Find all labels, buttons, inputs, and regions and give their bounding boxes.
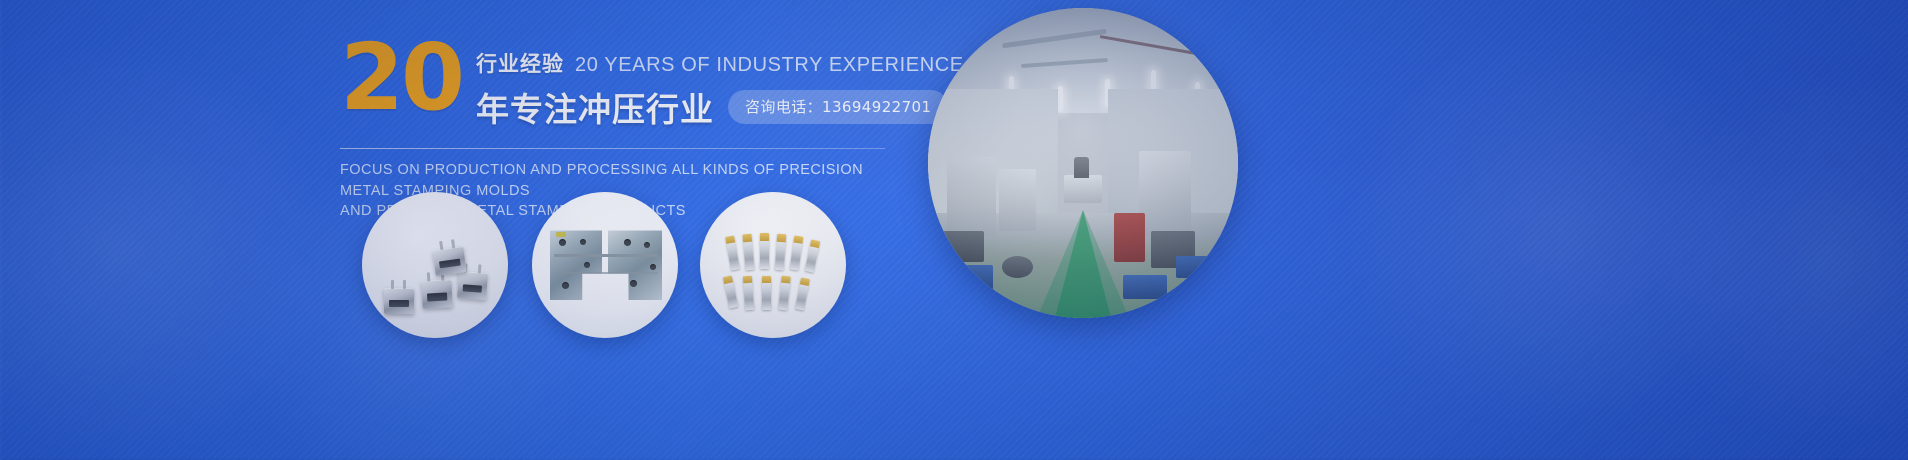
usb-slot [462,284,482,292]
usb-shell-1 [384,288,414,314]
usb-pin [439,241,443,250]
mold-guide-bar [554,272,658,274]
mold-hole [624,239,631,246]
tagline-en: 20 YEARS OF INDUSTRY EXPERIENCE [575,54,964,77]
terminal-tip [810,239,820,248]
terminal-tip [743,276,752,284]
factory-photo-circle [928,8,1238,318]
usb-shell-4 [432,246,466,276]
usb-shell-3 [457,271,488,300]
usb-shell-2 [421,279,452,309]
terminal-tip [760,233,769,241]
terminal-tip [781,276,791,284]
product-circle-terminals [700,192,846,338]
headline-row: 20 行业经验 20 YEARS OF INDUSTRY EXPERIENCE … [340,34,900,131]
years-number: 20 [340,38,462,119]
terminal-tip [742,234,752,243]
usb-pin [403,280,406,289]
photo-shading [928,8,1238,318]
usb-slot [389,300,409,307]
usb-slot [427,293,448,301]
terminal-tip [725,235,735,244]
phone-badge[interactable]: 咨询电话：13694922701 [728,90,948,124]
terminal-tip [800,277,810,286]
usb-pin [427,272,430,281]
terminal-pin [762,276,771,310]
terminal-pin [775,234,786,271]
tagline-cn-large: 年专注冲压行业 [476,83,714,131]
promo-banner: 20 行业经验 20 YEARS OF INDUSTRY EXPERIENCE … [0,0,1908,460]
terminal-pin [723,275,738,308]
tagline-cn-small: 行业经验 [476,48,564,78]
mold-hole [580,239,586,245]
terminal-pin [725,235,740,270]
usb-pin [451,239,455,248]
mold-hole [584,262,590,268]
terminal-pin [795,277,810,310]
product-circle-usb-connectors [362,192,508,338]
mold-hole [562,282,569,289]
mold-guide-bar [554,254,658,257]
usb-pin [478,264,482,273]
terminal-tip [762,276,771,283]
usb-pin [391,280,394,289]
mold-hole [650,264,656,270]
terminal-pin [760,233,769,269]
mold-plate-left [550,230,602,300]
terminal-pin [790,236,804,271]
tagline-line-2: 年专注冲压行业 咨询电话：13694922701 [476,83,964,131]
headline-text-group: 行业经验 20 YEARS OF INDUSTRY EXPERIENCE 年专注… [476,34,964,131]
terminal-pin [805,239,820,272]
terminal-tip [723,275,733,284]
usb-slot [439,259,461,269]
mold-hole [644,242,650,248]
divider-line [340,148,885,149]
mold-marker [556,232,566,237]
terminal-pin [742,234,754,271]
mold-hole [559,239,566,246]
product-circle-stamping-mold [532,192,678,338]
terminal-tip [777,234,787,243]
mold-hole [630,280,637,287]
terminal-tip [793,236,803,245]
terminal-pin [743,276,754,311]
terminal-pin [778,276,791,311]
tagline-line-1: 行业经验 20 YEARS OF INDUSTRY EXPERIENCE [476,48,964,78]
